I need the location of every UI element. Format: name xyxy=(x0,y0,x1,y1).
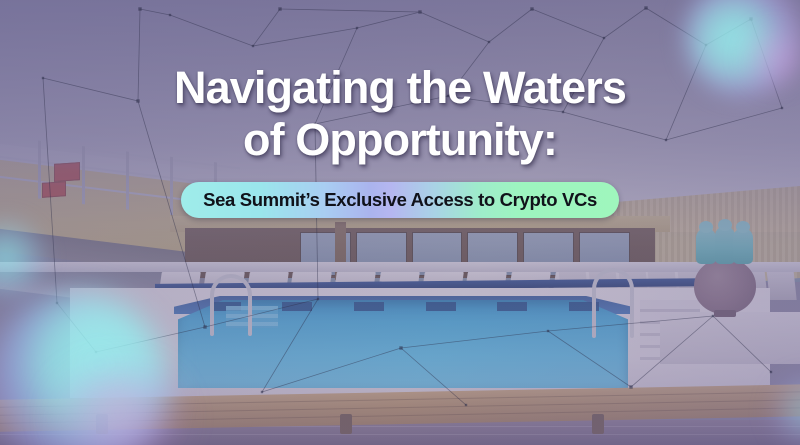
page-title: Navigating the Waters of Opportunity: xyxy=(174,62,626,166)
promo-banner: Navigating the Waters of Opportunity: Se… xyxy=(0,0,800,445)
subtitle-pill-badge: Sea Summit’s Exclusive Access to Crypto … xyxy=(181,182,619,218)
headline-block: Navigating the Waters of Opportunity: Se… xyxy=(0,0,800,445)
